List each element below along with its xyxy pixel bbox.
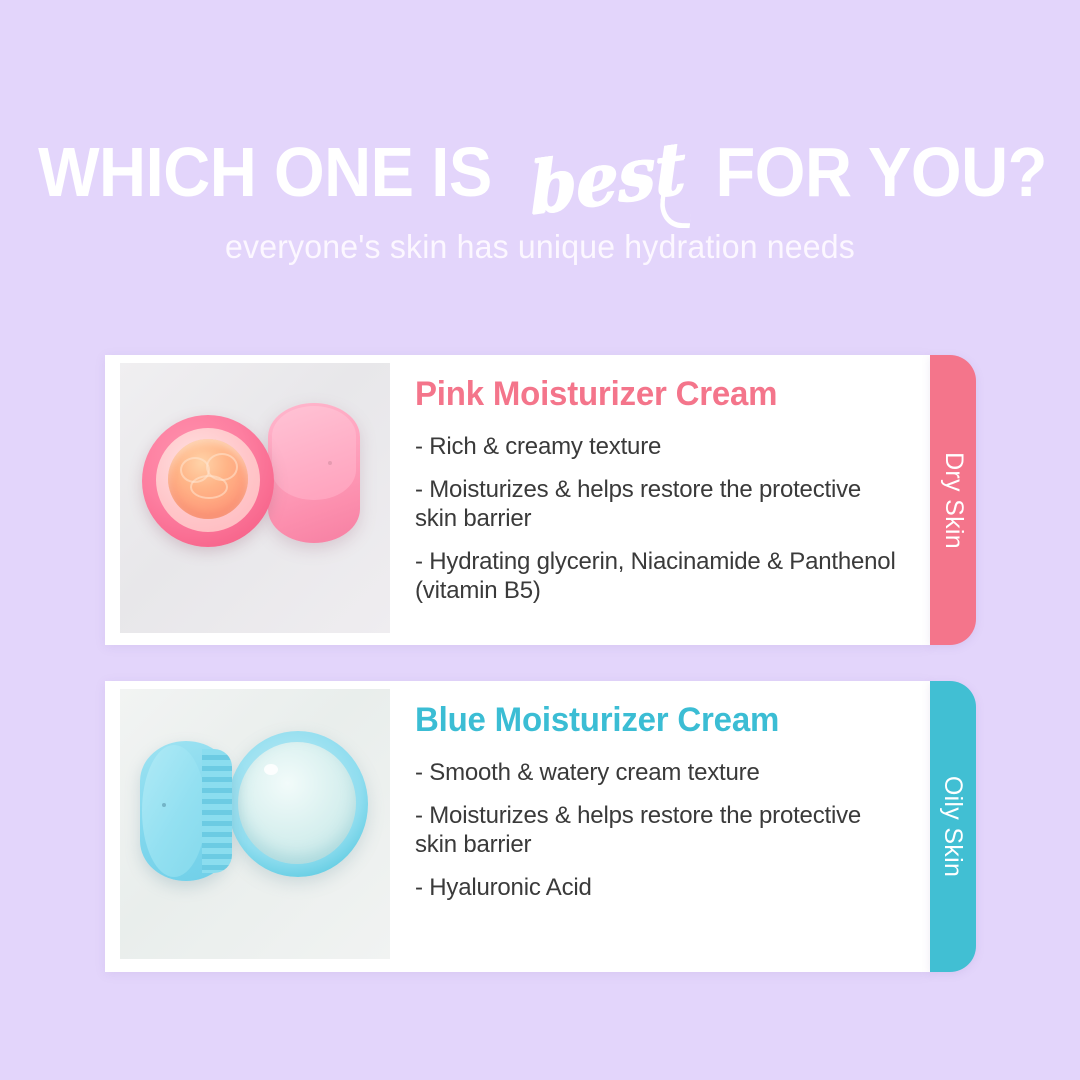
skin-type-tab-dry[interactable]: Dry Skin bbox=[930, 355, 976, 645]
feature-list-pink: - Rich & creamy texture - Moisturizes & … bbox=[415, 432, 904, 605]
jar-base-pink bbox=[142, 415, 274, 547]
jar-lid-speck-pink bbox=[328, 461, 332, 465]
jar-lid-top-pink bbox=[272, 406, 356, 500]
list-item: - Moisturizes & helps restore the protec… bbox=[415, 801, 904, 859]
product-title-blue: Blue Moisturizer Cream bbox=[415, 701, 889, 740]
skin-type-tab-label-oily: Oily Skin bbox=[939, 776, 968, 877]
title-part-2: FOR YOU? bbox=[715, 137, 1046, 207]
skin-type-tab-label-dry: Dry Skin bbox=[939, 452, 968, 549]
cream-swirl-icon bbox=[190, 475, 228, 499]
jar-lid-pink bbox=[268, 403, 360, 543]
product-card-blue[interactable]: Blue Moisturizer Cream - Smooth & watery… bbox=[105, 681, 930, 972]
page-title: WHICH ONE ISbestFOR YOU? bbox=[0, 136, 1080, 208]
card-body-pink: Pink Moisturizer Cream - Rich & creamy t… bbox=[390, 355, 930, 619]
header-section: WHICH ONE ISbestFOR YOU? everyone's skin… bbox=[0, 0, 1080, 330]
page-subtitle: everyone's skin has unique hydration nee… bbox=[16, 228, 1064, 266]
jar-base-blue bbox=[228, 731, 368, 877]
product-card-pink[interactable]: Pink Moisturizer Cream - Rich & creamy t… bbox=[105, 355, 930, 645]
list-item: - Hydrating glycerin, Niacinamide & Pant… bbox=[415, 547, 904, 605]
jar-lid-top-blue bbox=[142, 745, 206, 877]
list-item: - Moisturizes & helps restore the protec… bbox=[415, 475, 904, 533]
cream-surface-pink bbox=[168, 439, 248, 519]
jar-lid-speck-blue bbox=[162, 803, 166, 807]
list-item: - Rich & creamy texture bbox=[415, 432, 904, 461]
script-flourish-icon bbox=[658, 176, 694, 228]
skin-type-tab-oily[interactable]: Oily Skin bbox=[930, 681, 976, 972]
jar-lid-ridges-blue bbox=[202, 749, 232, 873]
card-body-blue: Blue Moisturizer Cream - Smooth & watery… bbox=[390, 681, 930, 916]
jar-rim-inner-pink bbox=[156, 428, 260, 532]
list-item: - Hyaluronic Acid bbox=[415, 873, 904, 902]
product-image-blue bbox=[120, 689, 390, 959]
product-title-pink: Pink Moisturizer Cream bbox=[415, 375, 889, 414]
list-item: - Smooth & watery cream texture bbox=[415, 758, 904, 787]
gel-bubble-icon bbox=[264, 764, 278, 775]
feature-list-blue: - Smooth & watery cream texture - Moistu… bbox=[415, 758, 904, 902]
product-image-pink bbox=[120, 363, 390, 633]
title-script-word: best bbox=[529, 131, 686, 225]
title-part-1: WHICH ONE IS bbox=[38, 137, 492, 207]
jar-lid-blue bbox=[140, 741, 232, 881]
gel-surface-blue bbox=[238, 742, 356, 864]
